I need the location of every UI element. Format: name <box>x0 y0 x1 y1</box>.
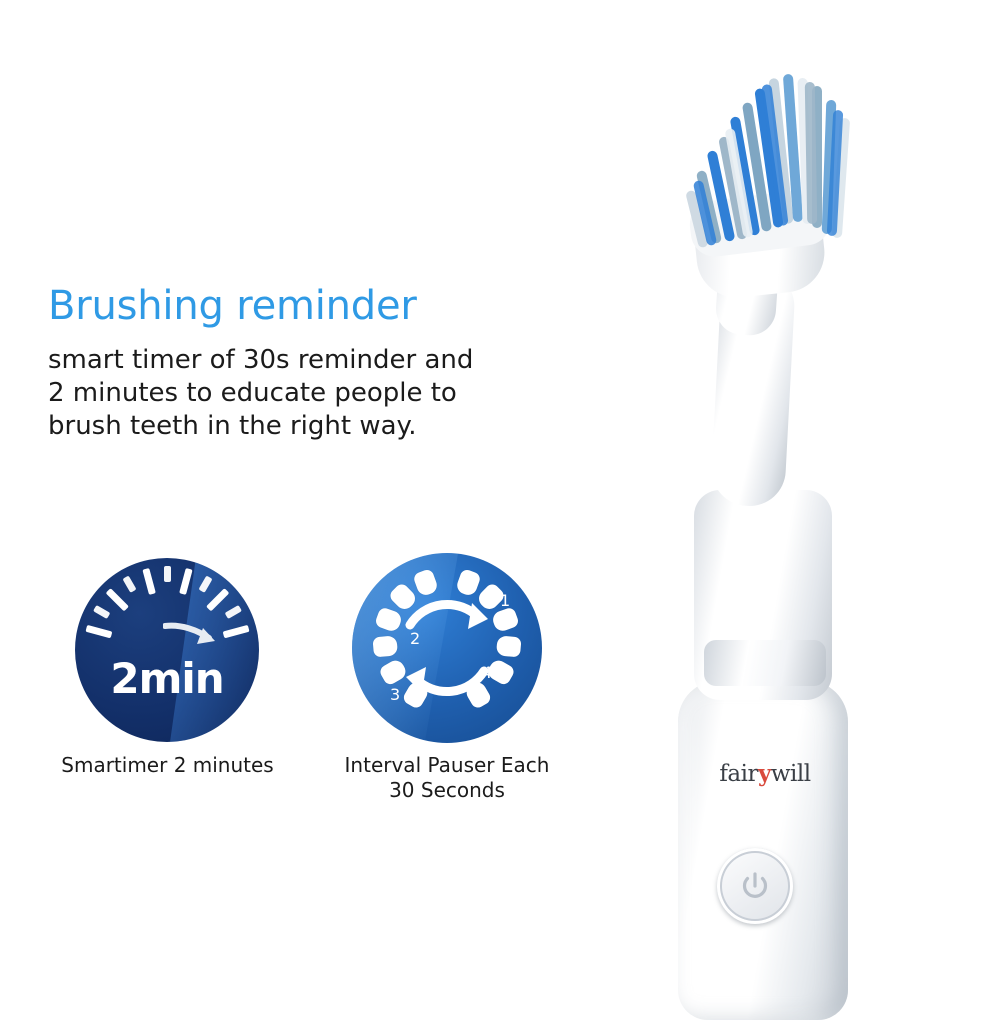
smartimer-caption-line-1: Smartimer 2 minutes <box>40 753 295 778</box>
dial-tick <box>142 568 155 595</box>
feature-icon-row: 2min Smartimer 2 minutes <box>40 548 600 818</box>
interval-pauser-caption-line-1: Interval Pauser Each <box>302 753 592 778</box>
dial-arrow-icon <box>163 620 221 650</box>
dial-tick <box>105 588 128 611</box>
timer-dial-icon: 2min <box>75 558 259 742</box>
timer-dial-sheen <box>165 558 259 742</box>
quadrant-number-1: 1 <box>500 591 510 610</box>
brand-text-right: will <box>771 761 811 787</box>
page-description: smart timer of 30s reminder and 2 minute… <box>48 344 473 443</box>
quadrant-number-4: 4 <box>482 663 492 682</box>
dial-tick <box>122 576 136 593</box>
quadrant-number-2: 2 <box>410 629 420 648</box>
toothbrush-bristles <box>680 30 860 240</box>
description-line-1: smart timer of 30s reminder and <box>48 344 473 377</box>
interval-pauser-caption: Interval Pauser Each 30 Seconds <box>302 753 592 803</box>
timer-value-label: 2min <box>75 654 259 703</box>
dial-tick <box>164 566 171 582</box>
smartimer-caption: Smartimer 2 minutes <box>40 753 295 778</box>
page-title: Brushing reminder <box>48 283 417 329</box>
brand-tick-icon: y <box>758 760 771 787</box>
dial-tick <box>93 605 110 619</box>
brand-text-left: fair <box>719 761 758 787</box>
dial-tick <box>85 625 112 638</box>
mouth-quadrants-icon: 1 2 3 4 <box>352 553 542 743</box>
power-button[interactable] <box>717 848 793 924</box>
brand-logo: fairywill <box>690 760 840 787</box>
power-icon <box>738 869 772 903</box>
dial-tick <box>179 568 192 595</box>
toothbrush-product-image: fairywill <box>620 20 960 1005</box>
description-line-2: 2 minutes to educate people to <box>48 377 473 410</box>
interval-pauser-caption-line-2: 30 Seconds <box>302 778 592 803</box>
rotation-arrows-icon <box>352 553 542 743</box>
description-line-3: brush teeth in the right way. <box>48 410 473 443</box>
quadrant-number-3: 3 <box>390 685 400 704</box>
toothbrush-neck-band <box>704 640 826 686</box>
